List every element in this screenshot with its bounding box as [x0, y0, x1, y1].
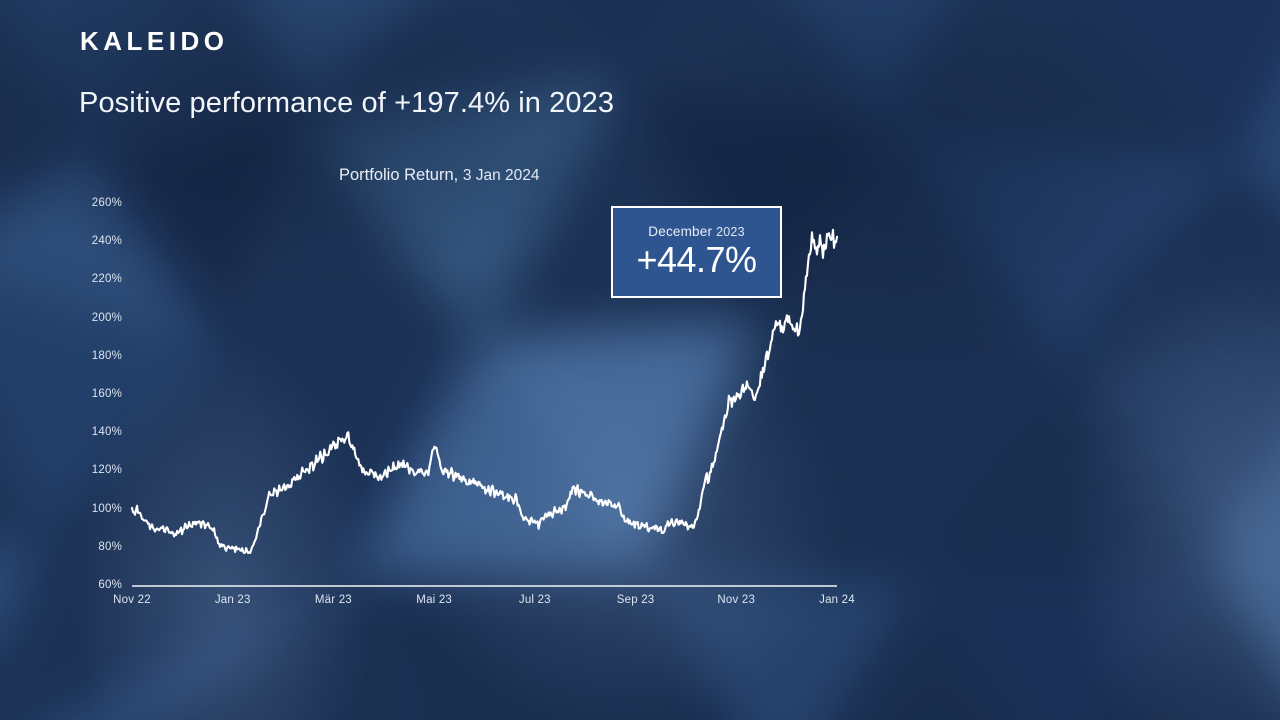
- plot-area: [0, 0, 1280, 720]
- chart-container: Portfolio Return, 3 Jan 2024 260%240%220…: [0, 0, 1280, 720]
- callout-month: December: [648, 224, 712, 239]
- callout-value: +44.7%: [636, 241, 756, 279]
- callout-year: 2023: [716, 225, 745, 239]
- callout-december-2023: December 2023 +44.7%: [611, 206, 782, 298]
- callout-period: December 2023: [648, 224, 744, 239]
- slide-canvas: KALEIDO Positive performance of +197.4% …: [0, 0, 1280, 720]
